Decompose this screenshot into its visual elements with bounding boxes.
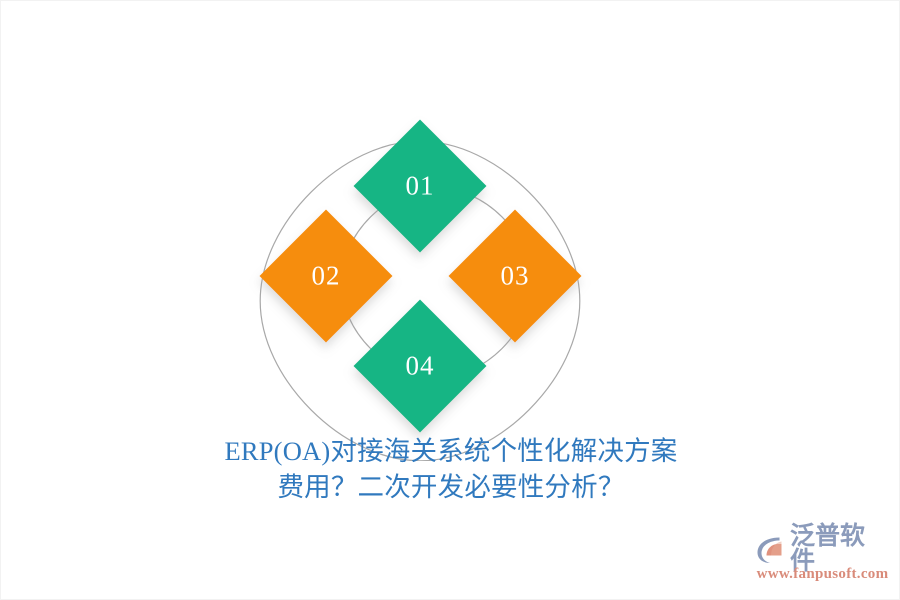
diamond-nodes-group	[260, 120, 582, 433]
caption-block: ERP(OA)对接海关系统个性化解决方案 费用？二次开发必要性分析？	[1, 433, 900, 505]
brand-logo[interactable]: 泛普软件 www.fanpusoft.com	[754, 529, 889, 591]
four-step-diamond-diagram: 01 02 03 04	[1, 1, 900, 461]
diamond-node-04[interactable]	[354, 300, 487, 433]
caption-line-1: ERP(OA)对接海关系统个性化解决方案	[1, 433, 900, 469]
brand-logo-row: 泛普软件	[754, 531, 889, 567]
fanpu-logo-icon	[754, 532, 788, 566]
diamond-node-01[interactable]	[354, 120, 487, 253]
diamond-node-02[interactable]	[260, 210, 393, 343]
diamond-node-03[interactable]	[449, 210, 582, 343]
slide-canvas: 01 02 03 04 ERP(OA)对接海关系统个性化解决方案 费用？二次开发…	[0, 0, 900, 600]
caption-line-2: 费用？二次开发必要性分析？	[1, 469, 900, 505]
brand-url: www.fanpusoft.com	[756, 565, 889, 583]
diagram-svg	[1, 1, 900, 461]
